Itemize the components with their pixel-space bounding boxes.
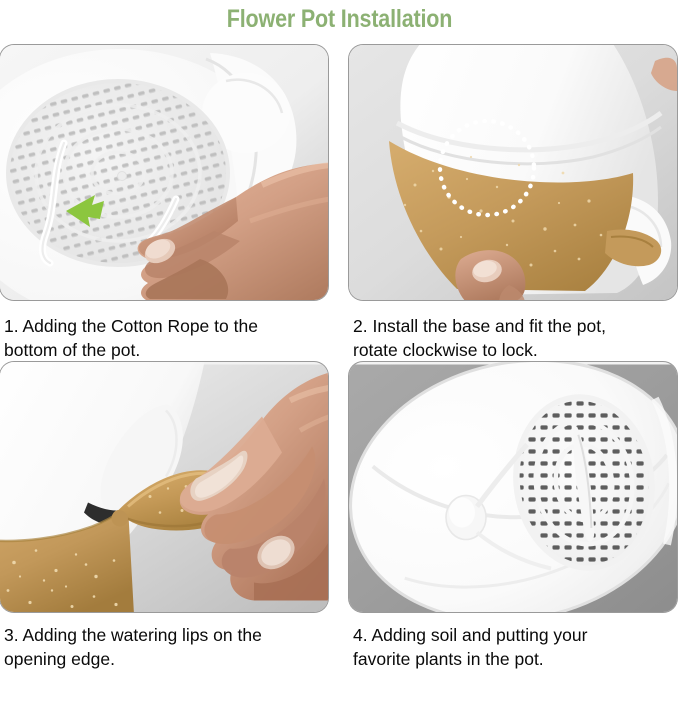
instruction-sheet: Flower Pot Installation: [0, 0, 679, 701]
step-1-image: [0, 45, 328, 300]
step-1-cell: 1. Adding the Cotton Rope to the bottom …: [0, 45, 330, 362]
step-3-image: [0, 362, 328, 612]
step-4-caption: 4. Adding soil and putting your favorite…: [349, 612, 679, 674]
step-2-cell: 2. Install the base and fit the pot, rot…: [349, 45, 679, 362]
step-3-caption: 3. Adding the watering lips on the openi…: [0, 612, 330, 674]
page-title: Flower Pot Installation: [48, 0, 632, 36]
step-2-caption: 2. Install the base and fit the pot, rot…: [349, 300, 679, 362]
step-1-caption: 1. Adding the Cotton Rope to the bottom …: [0, 300, 330, 362]
step-2-image: [349, 45, 677, 300]
step-4-image: [349, 362, 677, 612]
step-4-cell: 4. Adding soil and putting your favorite…: [349, 362, 679, 674]
step-3-cell: 3. Adding the watering lips on the openi…: [0, 362, 330, 674]
steps-grid: 1. Adding the Cotton Rope to the bottom …: [0, 45, 679, 674]
